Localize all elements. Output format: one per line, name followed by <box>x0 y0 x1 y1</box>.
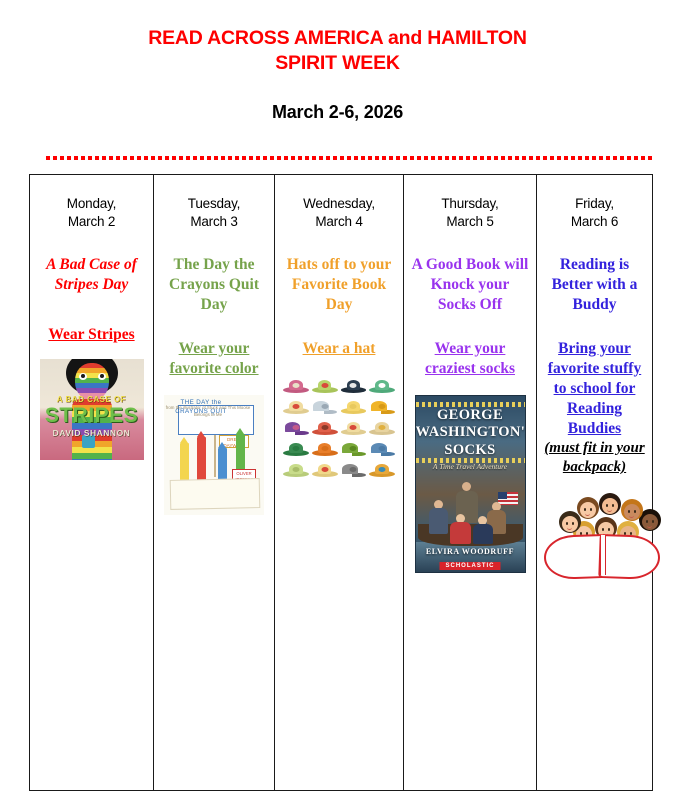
theme-thursday: A Good Book will Knock your Socks Off <box>410 255 530 315</box>
art-monday-wrapper: A BAD CASE OF STRIPES DAVID SHANNON <box>36 359 147 460</box>
cover-ground-shape <box>170 478 261 510</box>
hat-14-icon <box>312 440 338 457</box>
page-title-line-1: READ ACROSS AMERICA and HAMILTON <box>0 26 675 51</box>
crayon-yellow-shape <box>180 443 189 481</box>
day-label-wednesday-line-1: Wednesday, <box>303 196 375 211</box>
note-friday: (must fit in your backpack) <box>543 439 646 477</box>
hat-decoration-shape <box>292 425 299 430</box>
george-washingtons-socks-book-cover-icon: GEORGE WASHINGTON'S SOCKS A Time Travel … <box>415 395 526 573</box>
hat-13-icon <box>283 440 309 457</box>
child-mouth-shape <box>607 508 612 512</box>
child-face-shape <box>624 504 640 520</box>
child-eye-right-shape <box>608 528 610 531</box>
theme-tuesday: The Day the Crayons Quit Day <box>160 255 268 315</box>
hat-decoration-shape <box>379 383 386 388</box>
crayon-blue-shape <box>218 448 227 481</box>
child-eye-left-shape <box>566 522 568 525</box>
day-label-monday-line-1: Monday, <box>67 196 116 211</box>
figure-body-5-shape <box>473 524 493 544</box>
publisher-logo: SCHOLASTIC <box>440 562 501 570</box>
child-mouth-shape <box>647 524 652 528</box>
hat-decoration-shape <box>292 467 299 472</box>
cover-title-small: A BAD CASE OF <box>46 395 138 404</box>
hat-decoration-shape <box>292 446 299 451</box>
child-face-shape <box>562 516 578 532</box>
hat-decoration-shape <box>379 467 386 472</box>
hat-17-icon <box>283 461 309 478</box>
theme-monday: A Bad Case of Stripes Day <box>36 255 147 295</box>
page-title-line-2: SPIRIT WEEK <box>0 51 675 76</box>
hat-decoration-shape <box>379 446 386 451</box>
date-range-subtitle: March 2-6, 2026 <box>0 102 675 123</box>
hat-decoration-shape <box>350 404 357 409</box>
hat-3-icon <box>341 377 367 394</box>
hat-15-icon <box>341 440 367 457</box>
day-label-wednesday-line-2: March 4 <box>281 213 397 231</box>
art-friday-wrapper <box>543 491 646 599</box>
day-label-friday: Friday, March 6 <box>543 195 646 231</box>
day-label-friday-line-1: Friday, <box>575 196 614 211</box>
day-label-tuesday: Tuesday, March 3 <box>160 195 268 231</box>
day-label-monday: Monday, March 2 <box>36 195 147 231</box>
hat-decoration-shape <box>292 404 299 409</box>
the-day-the-crayons-quit-book-cover-icon: THE DAY the CRAYONS QUIT DREW DAYWALT OL… <box>164 395 264 515</box>
american-flag-shape <box>498 492 518 505</box>
day-label-tuesday-line-1: Tuesday, <box>188 196 240 211</box>
spirit-week-table: Monday, March 2 A Bad Case of Stripes Da… <box>29 174 653 791</box>
hat-7-icon <box>341 398 367 415</box>
eye-right-shape <box>98 373 106 380</box>
child-eye-right-shape <box>612 504 614 507</box>
hat-decoration-shape <box>321 446 328 451</box>
art-wednesday-wrapper <box>281 377 397 478</box>
instruction-monday: Wear Stripes <box>36 325 147 345</box>
hat-8-icon <box>369 398 395 415</box>
child-eye-left-shape <box>584 508 586 511</box>
figure-head-1-shape <box>462 482 471 491</box>
hat-6-icon <box>312 398 338 415</box>
child-face-shape <box>580 502 596 518</box>
child-mouth-shape <box>567 526 572 530</box>
theme-wednesday: Hats off to your Favorite Book Day <box>281 255 397 315</box>
table-row: Monday, March 2 A Bad Case of Stripes Da… <box>30 175 653 791</box>
child-eye-right-shape <box>590 508 592 511</box>
day-label-thursday-line-2: March 5 <box>410 213 530 231</box>
day-label-tuesday-line-2: March 3 <box>160 213 268 231</box>
hats-collection-icon <box>283 377 395 478</box>
child-eye-left-shape <box>646 520 648 523</box>
hat-4-icon <box>369 377 395 394</box>
instruction-thursday: Wear your craziest socks <box>410 339 530 379</box>
cover-title-line-2: WASHINGTON'S <box>416 424 525 441</box>
instruction-tuesday: Wear your favorite color <box>160 339 268 379</box>
child-4-head-icon <box>559 511 581 533</box>
page-header: READ ACROSS AMERICA and HAMILTON SPIRIT … <box>0 0 675 123</box>
reading-buddies-icon <box>543 491 646 599</box>
child-2-head-icon <box>599 493 621 515</box>
hat-9-icon <box>283 419 309 436</box>
hat-decoration-shape <box>350 467 357 472</box>
hat-12-icon <box>369 419 395 436</box>
theme-friday: Reading is Better with a Buddy <box>543 255 646 315</box>
hat-decoration-shape <box>350 446 357 451</box>
hat-decoration-shape <box>321 404 328 409</box>
day-cell-wednesday[interactable]: Wednesday, March 4 Hats off to your Favo… <box>275 175 404 791</box>
hat-decoration-shape <box>379 404 386 409</box>
art-tuesday-wrapper: THE DAY the CRAYONS QUIT DREW DAYWALT OL… <box>160 395 268 515</box>
hat-19-icon <box>341 461 367 478</box>
day-cell-thursday[interactable]: Thursday, March 5 A Good Book will Knock… <box>404 175 537 791</box>
crayon-red-shape <box>197 437 206 481</box>
book-page-right-shape <box>598 534 660 580</box>
a-bad-case-of-stripes-book-cover-icon: A BAD CASE OF STRIPES DAVID SHANNON <box>40 359 144 460</box>
hat-decoration-shape <box>321 467 328 472</box>
hat-decoration-shape <box>350 425 357 430</box>
child-eye-left-shape <box>628 510 630 513</box>
child-eye-left-shape <box>602 528 604 531</box>
cover-author: ELVIRA WOODRUFF <box>416 547 525 556</box>
hat-decoration-shape <box>292 383 299 388</box>
day-label-monday-line-2: March 2 <box>36 213 147 231</box>
hat-16-icon <box>369 440 395 457</box>
cover-title-line-1: GEORGE <box>416 407 525 424</box>
red-dotted-divider <box>46 156 654 160</box>
day-label-wednesday: Wednesday, March 4 <box>281 195 397 231</box>
day-label-thursday-line-1: Thursday, <box>441 196 498 211</box>
day-label-friday-line-2: March 6 <box>543 213 646 231</box>
day-cell-monday[interactable]: Monday, March 2 A Bad Case of Stripes Da… <box>30 175 154 791</box>
book-page-left-shape <box>543 534 605 580</box>
day-cell-tuesday[interactable]: Tuesday, March 3 The Day the Crayons Qui… <box>154 175 275 791</box>
hat-decoration-shape <box>350 383 357 388</box>
hat-5-icon <box>283 398 309 415</box>
child-mouth-shape <box>585 512 590 516</box>
cover-title-big: STRIPES <box>40 404 144 428</box>
hat-2-icon <box>312 377 338 394</box>
hat-18-icon <box>312 461 338 478</box>
child-eye-right-shape <box>634 510 636 513</box>
day-cell-friday[interactable]: Friday, March 6 Reading is Better with a… <box>537 175 653 791</box>
instruction-wednesday: Wear a hat <box>281 339 397 359</box>
figure-body-4-shape <box>450 522 471 544</box>
hat-decoration-shape <box>379 425 386 430</box>
cover-title-line-3: SOCKS <box>416 442 525 459</box>
eye-left-shape <box>79 373 87 380</box>
cover-footer-text: from the illustrator of Stuck and This M… <box>164 404 252 418</box>
hat-10-icon <box>312 419 338 436</box>
child-face-shape <box>602 498 618 514</box>
instruction-friday: Bring your favorite stuffy to school for… <box>543 339 646 439</box>
cover-author: DAVID SHANNON <box>40 428 144 438</box>
child-eye-left-shape <box>606 504 608 507</box>
page-title: READ ACROSS AMERICA and HAMILTON SPIRIT … <box>0 26 675 76</box>
day-label-thursday: Thursday, March 5 <box>410 195 530 231</box>
child-face-shape <box>642 514 658 530</box>
child-mouth-shape <box>629 514 634 518</box>
child-eye-right-shape <box>572 522 574 525</box>
hat-11-icon <box>341 419 367 436</box>
open-book-shape <box>544 535 660 577</box>
hat-decoration-shape <box>321 383 328 388</box>
cover-subtitle: A Time Travel Adventure <box>416 462 525 471</box>
child-3-head-icon <box>621 499 643 521</box>
child-eye-right-shape <box>652 520 654 523</box>
art-thursday-wrapper: GEORGE WASHINGTON'S SOCKS A Time Travel … <box>410 395 530 573</box>
hat-decoration-shape <box>321 425 328 430</box>
book-spine-shape <box>600 535 606 575</box>
child-1-head-icon <box>577 497 599 519</box>
hat-20-icon <box>369 461 395 478</box>
hat-1-icon <box>283 377 309 394</box>
figure-body-2-shape <box>429 508 448 534</box>
